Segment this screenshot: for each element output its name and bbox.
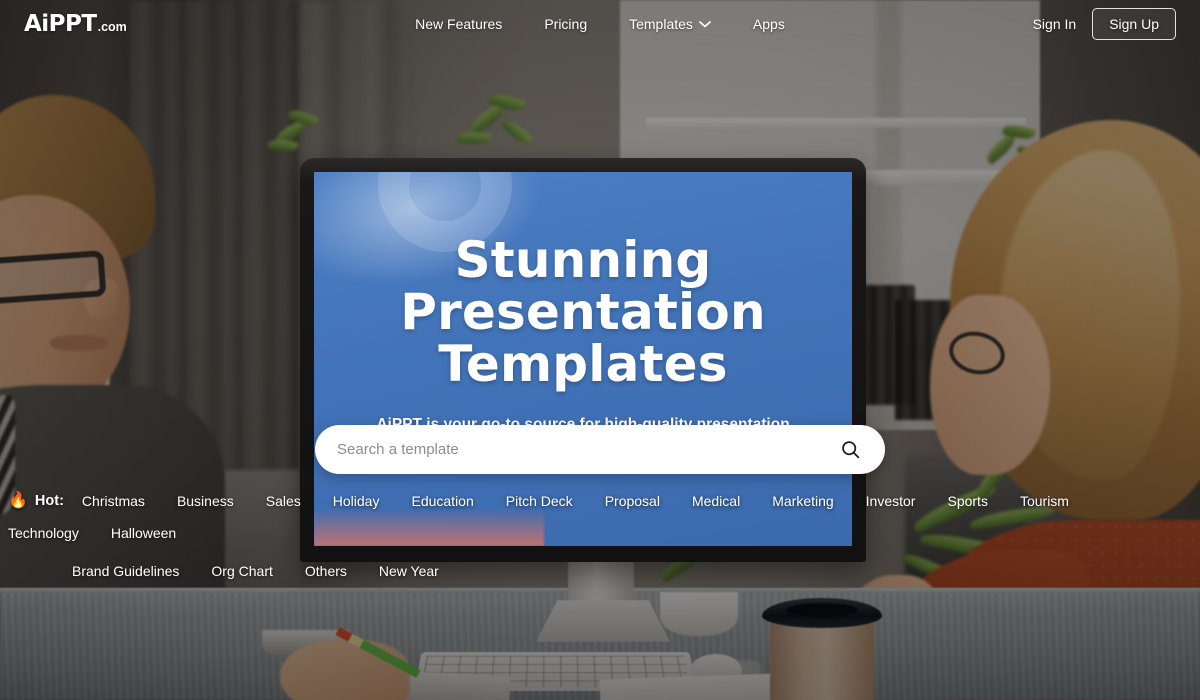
brand-suffix: .com bbox=[98, 20, 127, 34]
hot-tag-tourism[interactable]: Tourism bbox=[1020, 488, 1069, 514]
hot-tag-proposal[interactable]: Proposal bbox=[605, 488, 660, 514]
hot-tag-holiday[interactable]: Holiday bbox=[333, 488, 380, 514]
hot-tag-org-chart[interactable]: Org Chart bbox=[211, 558, 272, 584]
nav-item-label: Templates bbox=[629, 16, 693, 32]
brand-logo[interactable]: AiPPT .com bbox=[24, 11, 127, 37]
brand-name: AiPPT bbox=[24, 11, 97, 37]
hot-label: 🔥 Hot: bbox=[8, 488, 64, 514]
hot-tag-investor[interactable]: Investor bbox=[866, 488, 916, 514]
sign-in-button[interactable]: Sign In bbox=[1033, 16, 1077, 32]
page-title: Stunning Presentation Templates bbox=[336, 234, 830, 390]
hot-tag-christmas[interactable]: Christmas bbox=[82, 488, 145, 514]
search-input[interactable] bbox=[337, 441, 836, 458]
hot-tag-pitch-deck[interactable]: Pitch Deck bbox=[506, 488, 573, 514]
search-bar[interactable] bbox=[315, 425, 885, 474]
nav-item-label: New Features bbox=[415, 16, 502, 32]
nav-item-apps[interactable]: Apps bbox=[753, 16, 785, 32]
nav-item-new-features[interactable]: New Features bbox=[415, 16, 502, 32]
hot-tags-row-2: Brand Guidelines Org Chart Others New Ye… bbox=[8, 558, 1190, 584]
nav-item-templates[interactable]: Templates bbox=[629, 16, 711, 32]
hot-tag-marketing[interactable]: Marketing bbox=[772, 488, 833, 514]
nav-item-label: Pricing bbox=[544, 16, 587, 32]
hero-title-line2: Templates bbox=[438, 335, 728, 393]
hot-tag-business[interactable]: Business bbox=[177, 488, 234, 514]
hot-tag-sales[interactable]: Sales bbox=[266, 488, 301, 514]
fire-icon: 🔥 bbox=[8, 493, 28, 509]
hero-title-line1: Stunning Presentation bbox=[400, 231, 766, 341]
hot-tag-halloween[interactable]: Halloween bbox=[111, 520, 176, 546]
hero-text-block: Stunning Presentation Templates AiPPT is… bbox=[314, 234, 852, 452]
page-root: Stunning Presentation Templates AiPPT is… bbox=[0, 0, 1200, 700]
search-icon bbox=[840, 439, 861, 460]
hot-tag-medical[interactable]: Medical bbox=[692, 488, 740, 514]
hot-tag-others[interactable]: Others bbox=[305, 558, 347, 584]
nav-links: New Features Pricing Templates Apps bbox=[0, 16, 1200, 32]
search-button[interactable] bbox=[836, 435, 865, 464]
hot-tag-education[interactable]: Education bbox=[411, 488, 473, 514]
sign-up-button[interactable]: Sign Up bbox=[1092, 8, 1176, 40]
hot-tag-new-year[interactable]: New Year bbox=[379, 558, 439, 584]
hot-label-text: Hot: bbox=[35, 493, 64, 509]
chevron-down-icon bbox=[699, 20, 711, 28]
hot-tag-technology[interactable]: Technology bbox=[8, 520, 79, 546]
hot-tags-bar: 🔥 Hot: Christmas Business Sales Holiday … bbox=[0, 488, 1200, 584]
nav-item-label: Apps bbox=[753, 16, 785, 32]
nav-item-pricing[interactable]: Pricing bbox=[544, 16, 587, 32]
nav-account-actions: Sign In Sign Up bbox=[1033, 8, 1176, 40]
top-navigation-bar: AiPPT .com New Features Pricing Template… bbox=[0, 0, 1200, 48]
hot-tag-brand-guidelines[interactable]: Brand Guidelines bbox=[72, 558, 179, 584]
hot-tag-sports[interactable]: Sports bbox=[947, 488, 987, 514]
